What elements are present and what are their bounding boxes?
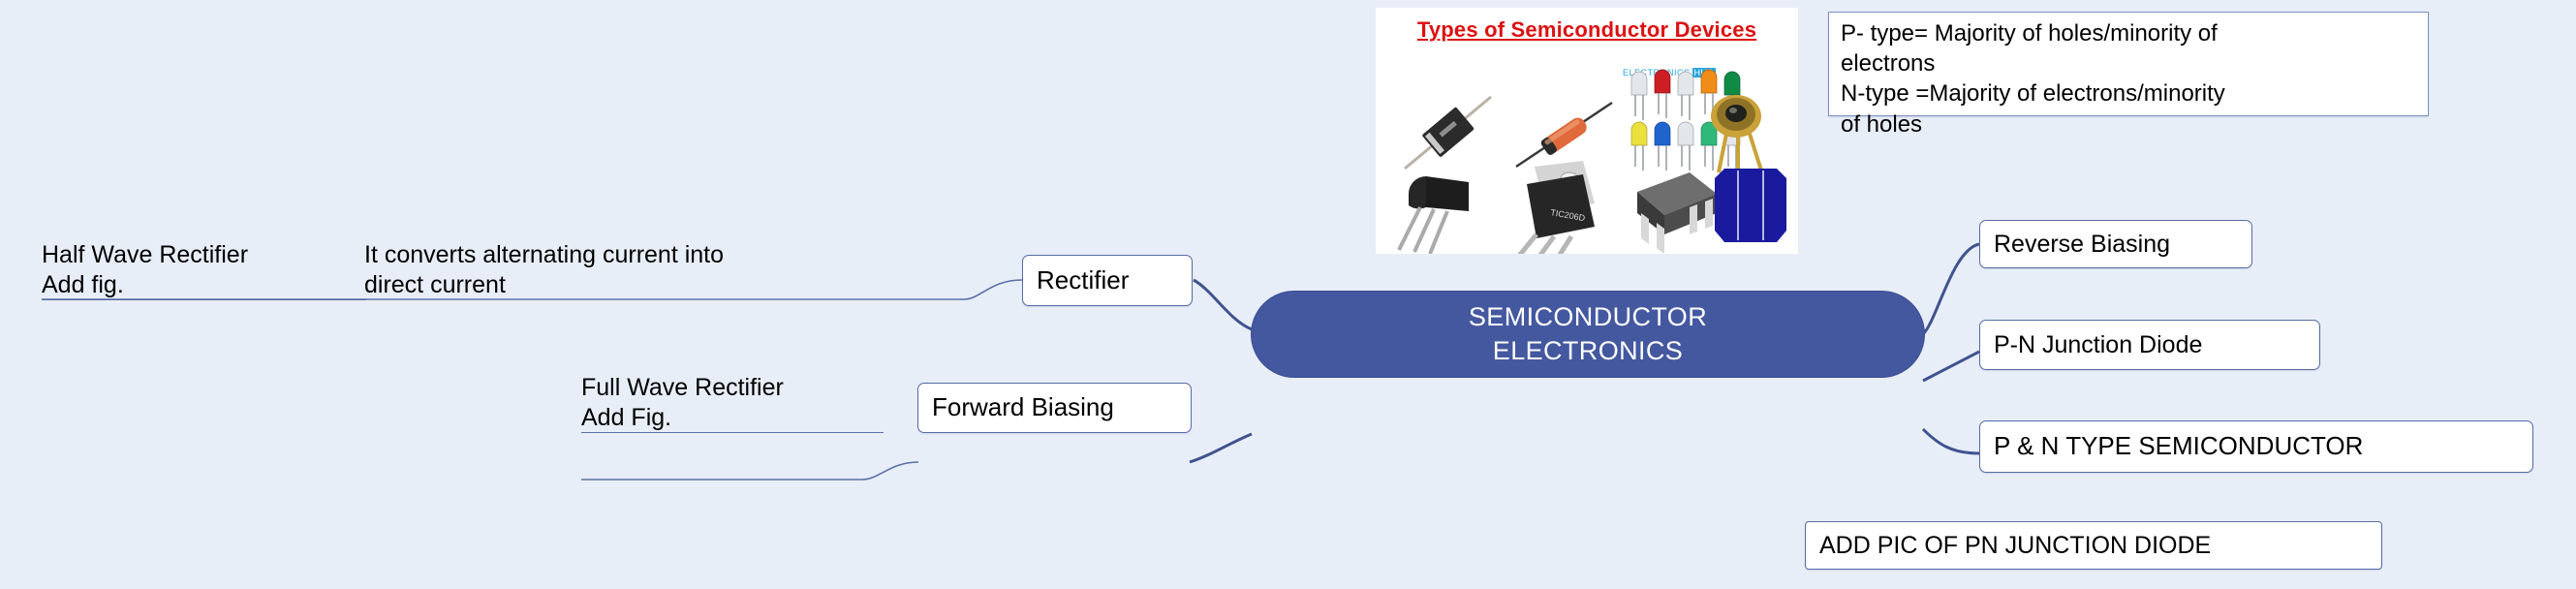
node-add-pic-label: ADD PIC OF PN JUNCTION DIODE (1819, 533, 2211, 558)
label-half-wave-line2: Add fig. (42, 270, 366, 300)
link-central-forward-biasing (1190, 434, 1252, 462)
image-card-title: Types of Semiconductor Devices (1376, 17, 1798, 43)
label-full-wave-underline (581, 432, 884, 433)
central-node-line1: SEMICONDUCTOR (1469, 300, 1707, 334)
label-converts-line2: direct current (364, 270, 907, 300)
to220-transistor-icon: TIC206D (1494, 159, 1620, 254)
node-forward-biasing-label: Forward Biasing (932, 394, 1114, 420)
device-illustration-grid: ELECTRONICSHUB (1376, 50, 1798, 248)
to92-transistor-icon (1393, 169, 1500, 254)
node-forward-biasing[interactable]: Forward Biasing (917, 383, 1192, 433)
node-reverse-biasing[interactable]: Reverse Biasing (1979, 220, 2252, 268)
label-converts-ac-dc[interactable]: It converts alternating current into dir… (364, 240, 907, 300)
label-half-wave-line1: Half Wave Rectifier (42, 240, 366, 270)
image-card-semiconductor-devices[interactable]: Types of Semiconductor Devices ELECTRONI… (1376, 8, 1798, 254)
rectifier-diode-icon (1397, 89, 1499, 176)
link-central-pn-type (1923, 429, 1979, 453)
label-half-wave-underline (42, 299, 366, 300)
central-node-line2: ELECTRONICS (1493, 334, 1683, 368)
node-add-pic-pn-junction-diode[interactable]: ADD PIC OF PN JUNCTION DIODE (1805, 521, 2382, 570)
node-rectifier-label: Rectifier (1037, 267, 1129, 294)
note-ptype-ntype[interactable]: P- type= Majority of holes/minority of e… (1828, 12, 2429, 116)
label-converts-line1: It converts alternating current into (364, 240, 907, 270)
note-line3: N-type =Majority of electrons/minority (1841, 78, 2418, 108)
solar-cell-icon (1713, 167, 1788, 246)
link-forwardbiasing-fullwave (581, 462, 918, 480)
node-pn-junction-diode-label: P-N Junction Diode (1994, 332, 2202, 357)
node-pn-junction-diode[interactable]: P-N Junction Diode (1979, 320, 2320, 370)
dip-optocoupler-icon (1620, 165, 1726, 254)
label-half-wave-rectifier[interactable]: Half Wave Rectifier Add fig. (42, 240, 366, 300)
node-pn-type-semiconductor-label: P & N TYPE SEMICONDUCTOR (1994, 433, 2363, 459)
note-line4: of holes (1841, 109, 2418, 139)
node-rectifier[interactable]: Rectifier (1022, 255, 1193, 306)
label-full-wave-line1: Full Wave Rectifier (581, 373, 884, 403)
node-pn-type-semiconductor[interactable]: P & N TYPE SEMICONDUCTOR (1979, 420, 2533, 473)
label-full-wave-line2: Add Fig. (581, 403, 884, 433)
mindmap-canvas: SEMICONDUCTOR ELECTRONICS Rectifier Forw… (0, 0, 2576, 589)
node-reverse-biasing-label: Reverse Biasing (1994, 232, 2170, 257)
note-line2: electrons (1841, 48, 2418, 78)
central-node[interactable]: SEMICONDUCTOR ELECTRONICS (1251, 291, 1925, 378)
link-central-rectifier (1194, 280, 1252, 329)
link-central-reverse-biasing (1923, 244, 1979, 334)
note-line1: P- type= Majority of holes/minority of (1841, 18, 2418, 48)
link-central-pn-junction (1923, 352, 1979, 381)
label-full-wave-rectifier[interactable]: Full Wave Rectifier Add Fig. (581, 373, 884, 433)
